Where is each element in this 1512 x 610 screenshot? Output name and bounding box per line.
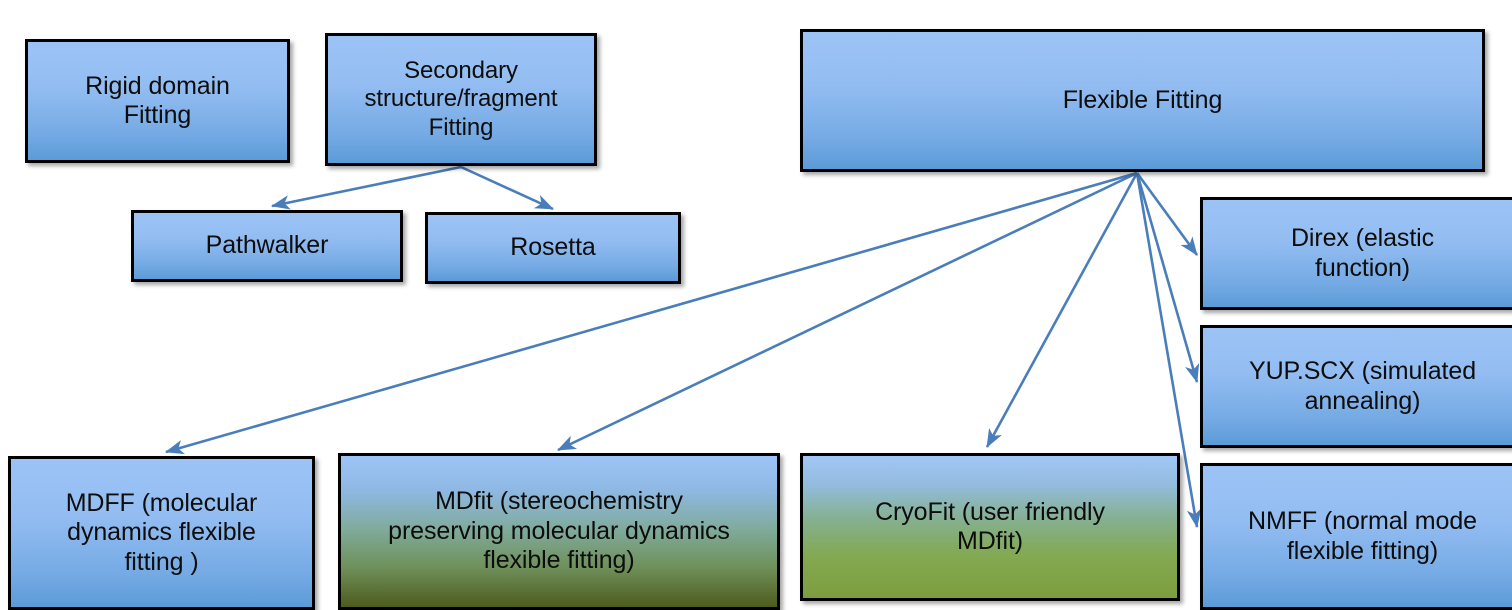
node-rigid-domain-fitting[interactable]: Rigid domain Fitting — [25, 39, 290, 163]
node-label: Rosetta — [436, 233, 670, 263]
node-direx[interactable]: Direx (elastic function) — [1200, 197, 1512, 310]
node-mdfit[interactable]: MDfit (stereochemistry preserving molecu… — [338, 453, 780, 610]
edge-secondary-to-rosetta — [461, 167, 553, 209]
diagram-canvas: Rigid domain Fitting Secondary structure… — [0, 0, 1512, 610]
node-label: NMFF (normal mode flexible fitting) — [1211, 507, 1512, 566]
node-label: Direx (elastic function) — [1211, 224, 1512, 283]
node-label: Rigid domain Fitting — [36, 72, 279, 131]
node-rosetta[interactable]: Rosetta — [425, 212, 681, 284]
node-label: Pathwalker — [142, 231, 392, 261]
node-label: Flexible Fitting — [811, 86, 1474, 116]
node-pathwalker[interactable]: Pathwalker — [131, 210, 403, 282]
edge-flexible-to-yupscx — [1137, 173, 1197, 382]
node-flexible-fitting[interactable]: Flexible Fitting — [800, 29, 1485, 172]
node-yup-scx[interactable]: YUP.SCX (simulated annealing) — [1200, 325, 1512, 448]
node-label: Secondary structure/fragment Fitting — [336, 57, 586, 142]
node-mdff[interactable]: MDFF (molecular dynamics flexible fittin… — [8, 456, 315, 610]
node-cryofit[interactable]: CryoFit (user friendly MDfit) — [800, 453, 1180, 601]
edge-secondary-to-pathwalker — [272, 167, 461, 206]
edge-flexible-to-cryofit — [987, 173, 1137, 447]
node-nmff[interactable]: NMFF (normal mode flexible fitting) — [1200, 463, 1512, 610]
node-secondary-structure-fragment-fitting[interactable]: Secondary structure/fragment Fitting — [325, 33, 597, 166]
node-label: MDfit (stereochemistry preserving molecu… — [349, 487, 769, 576]
node-label: YUP.SCX (simulated annealing) — [1211, 357, 1512, 416]
edge-flexible-to-direx — [1137, 173, 1197, 255]
node-label: CryoFit (user friendly MDfit) — [811, 498, 1169, 557]
node-label: MDFF (molecular dynamics flexible fittin… — [19, 489, 304, 578]
